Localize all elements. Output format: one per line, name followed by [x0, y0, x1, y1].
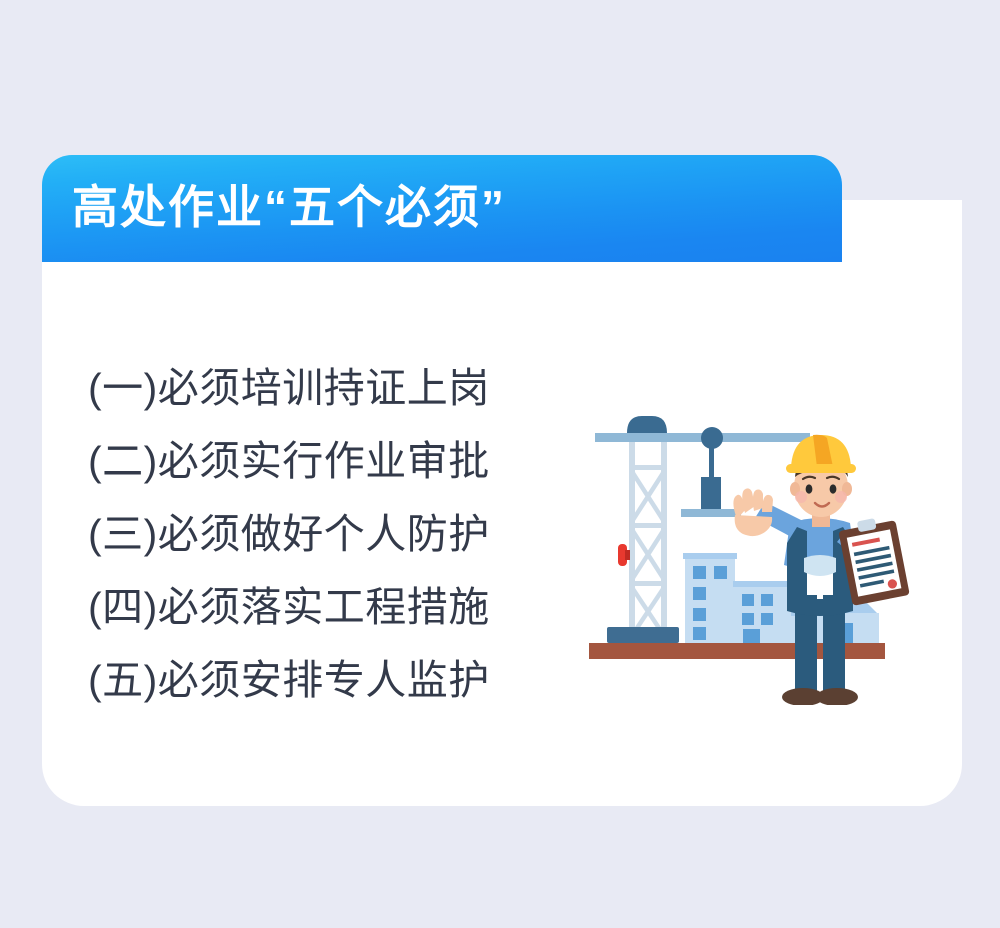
construction-worker-illustration	[585, 405, 955, 705]
worker-figure	[733, 435, 909, 705]
worker-head	[786, 435, 856, 517]
list-item: (四)必须落实工程措施	[88, 571, 490, 644]
page-title: 高处作业“五个必须”	[72, 184, 506, 234]
card-header: 高处作业“五个必须”	[42, 155, 842, 262]
list-item: (三)必须做好个人防护	[88, 498, 490, 571]
poster-root: 高处作业“五个必须” (一)必须培训持证上岗 (二)必须实行作业审批 (三)必须…	[0, 0, 1000, 928]
requirements-list: (一)必须培训持证上岗 (二)必须实行作业审批 (三)必须做好个人防护 (四)必…	[88, 352, 490, 717]
list-item: (二)必须实行作业审批	[88, 425, 490, 498]
safety-light-icon	[618, 544, 630, 566]
list-item: (五)必须安排专人监护	[88, 644, 490, 717]
list-item: (一)必须培训持证上岗	[88, 352, 490, 425]
